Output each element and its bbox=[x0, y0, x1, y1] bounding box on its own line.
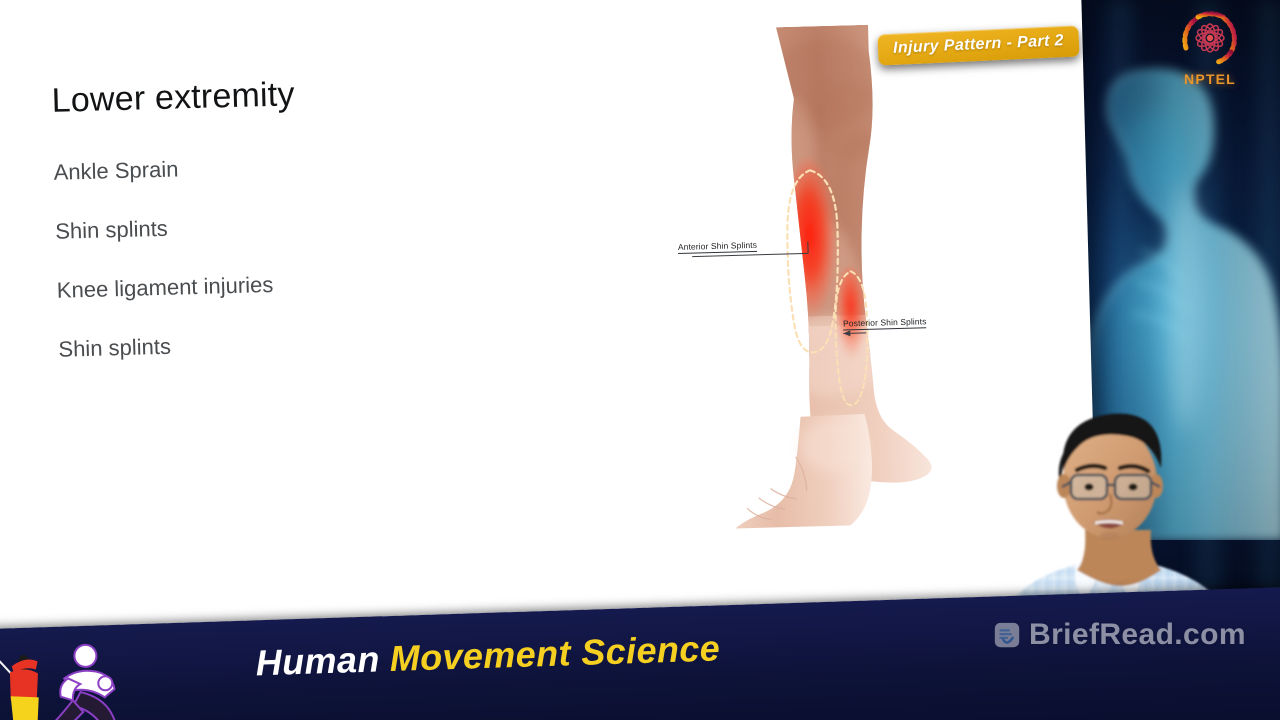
nptel-logo: NPTEL bbox=[1164, 10, 1256, 87]
figure-label-posterior: Posterior Shin Splints bbox=[843, 316, 927, 330]
bullet-item: Knee ligament injuries bbox=[57, 274, 274, 302]
course-title: HumanMovement Science bbox=[255, 627, 721, 684]
figure-label-anterior-text: Anterior Shin Splints bbox=[678, 240, 757, 254]
nptel-emblem-icon bbox=[1164, 10, 1256, 70]
figure-label-anterior: Anterior Shin Splints bbox=[678, 240, 757, 254]
presentation-slide: Lower extremity Ankle Sprain Shin splint… bbox=[0, 0, 1099, 694]
shin-splints-leg-diagram: Anterior Shin Splints Posterior Shin Spl… bbox=[672, 22, 985, 530]
bullet-item: Shin splints bbox=[58, 333, 275, 361]
course-title-accent: Movement Science bbox=[389, 627, 721, 679]
injury-pattern-badge-label: Injury Pattern - Part 2 bbox=[893, 32, 1065, 57]
studio-stage: Lower extremity Ankle Sprain Shin splint… bbox=[0, 0, 1280, 720]
athlete-pictograms-icon bbox=[0, 632, 138, 720]
slide-title: Lower extremity bbox=[51, 75, 295, 121]
figure-label-posterior-text: Posterior Shin Splints bbox=[843, 316, 927, 330]
bullet-item: Shin splints bbox=[55, 215, 272, 243]
nptel-wordmark: NPTEL bbox=[1164, 71, 1256, 87]
bullet-item: Ankle Sprain bbox=[53, 156, 270, 184]
course-title-primary: Human bbox=[255, 638, 380, 683]
slide-bullet-list: Ankle Sprain Shin splints Knee ligament … bbox=[53, 156, 276, 398]
